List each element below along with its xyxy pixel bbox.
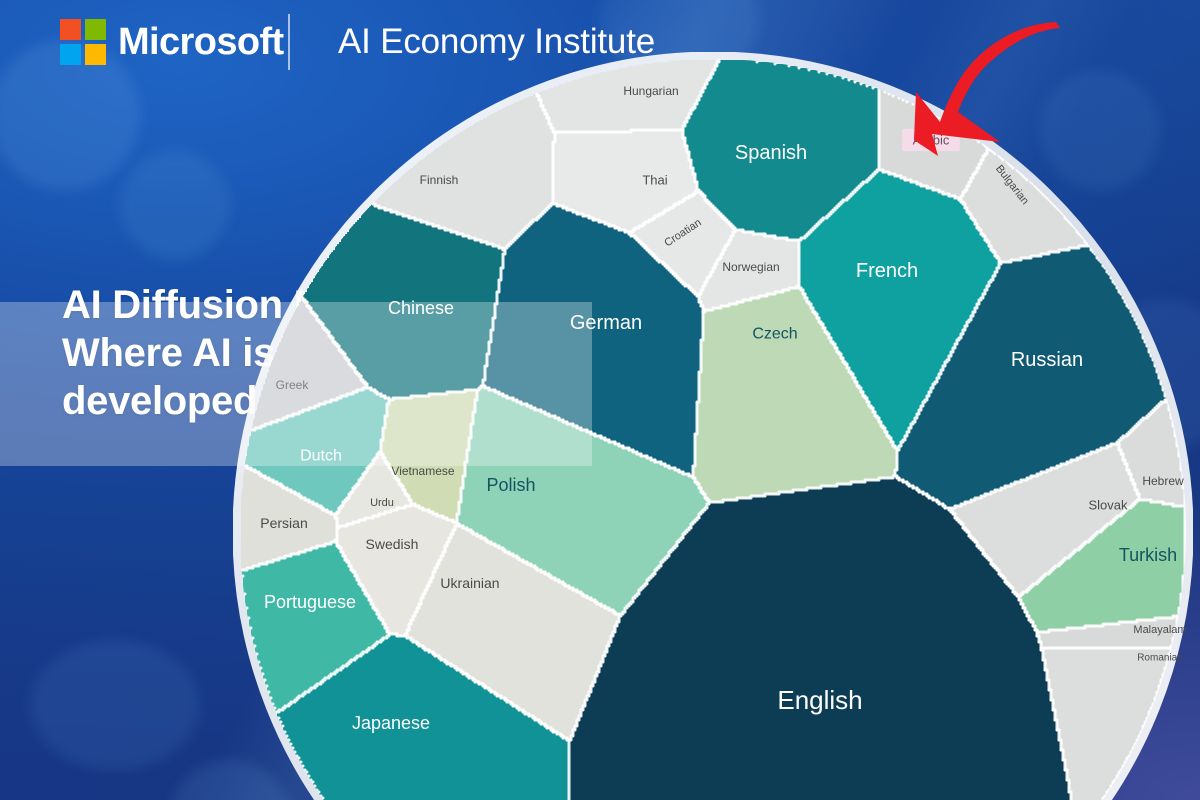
microsoft-wordmark: Microsoft xyxy=(118,19,284,65)
microsoft-logo-icon xyxy=(60,19,106,65)
header-divider xyxy=(288,14,290,70)
poster-canvas: Microsoft AI Economy Institute AI Diffus… xyxy=(0,0,1200,800)
annotation-arrow-group xyxy=(880,0,1100,170)
ai-economy-institute-label: AI Economy Institute xyxy=(338,19,655,65)
logo-square-blue xyxy=(60,44,81,65)
logo-square-yellow xyxy=(85,44,106,65)
logo-square-green xyxy=(85,19,106,40)
logo-square-red xyxy=(60,19,81,40)
red-arrow-icon xyxy=(880,0,1100,170)
title-scrim-band xyxy=(0,302,592,466)
